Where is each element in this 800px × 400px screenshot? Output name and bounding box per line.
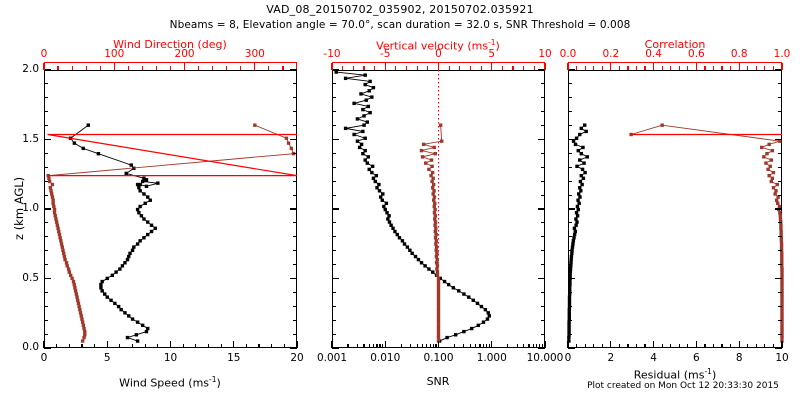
- data-point: [762, 155, 765, 158]
- y-axis-minor-tick: [44, 250, 48, 251]
- x-bottom-minor-tick: [470, 344, 471, 348]
- x-bottom-major-tick: [233, 341, 234, 348]
- x-top-minor-tick: [72, 66, 73, 71]
- x-top-minor-tick: [128, 66, 129, 71]
- data-point: [567, 320, 570, 323]
- x-bottom-minor-tick: [489, 344, 490, 348]
- data-point: [772, 171, 775, 174]
- x-top-tick-label: 0.0: [560, 48, 577, 60]
- x-top-major-tick: [781, 63, 782, 71]
- x-top-major-tick: [567, 63, 568, 71]
- x-top-minor-tick: [100, 66, 101, 71]
- data-point: [581, 146, 584, 149]
- data-point: [577, 192, 580, 195]
- y-axis-right-major-tick: [290, 69, 297, 70]
- x-bottom-minor-tick: [94, 344, 95, 348]
- x-top-tick-label: 0.4: [645, 48, 662, 60]
- y-axis-major-tick: [44, 139, 51, 140]
- data-point: [572, 236, 575, 239]
- x-top-minor-tick: [481, 66, 482, 71]
- y-axis-left-minor-tick: [332, 97, 336, 98]
- x-bottom-minor-tick: [132, 344, 133, 348]
- data-point: [770, 158, 773, 161]
- data-point: [572, 239, 575, 242]
- x-bottom-minor-tick: [670, 344, 671, 348]
- x-top-minor-tick: [704, 66, 705, 71]
- y-axis-right-minor-tick: [541, 320, 545, 321]
- data-point: [780, 283, 783, 286]
- data-point: [581, 168, 584, 171]
- x-top-tick-label: 0: [41, 48, 48, 60]
- x-bottom-minor-tick: [475, 344, 476, 348]
- data-point: [568, 283, 571, 286]
- x-top-tick-label: 0.2: [602, 48, 619, 60]
- data-point: [579, 189, 582, 192]
- x-bottom-minor-tick: [258, 344, 259, 348]
- data-point: [568, 286, 571, 289]
- y-axis-right-major-tick: [775, 208, 782, 209]
- x-top-major-tick: [696, 63, 697, 71]
- data-point: [567, 324, 570, 327]
- x-bottom-major-tick: [739, 341, 740, 348]
- x-bottom-tick-label: 4: [650, 352, 657, 364]
- y-axis-right-minor-tick: [293, 167, 297, 168]
- data-point: [780, 327, 783, 330]
- data-point: [780, 311, 783, 314]
- x-top-minor-tick: [417, 66, 418, 71]
- data-point: [780, 320, 783, 323]
- y-axis-right-minor-tick: [293, 264, 297, 265]
- data-point: [580, 127, 583, 130]
- x-bottom-minor-tick: [246, 344, 247, 348]
- y-axis-left-minor-tick: [568, 250, 572, 251]
- y-axis-minor-tick: [44, 97, 48, 98]
- data-point: [578, 195, 581, 198]
- data-point: [575, 137, 578, 140]
- y-axis-right-major-tick: [290, 139, 297, 140]
- data-point: [774, 189, 777, 192]
- x-bottom-minor-tick: [183, 344, 184, 348]
- x-bottom-minor-tick: [539, 344, 540, 348]
- data-point: [582, 161, 585, 164]
- data-point: [766, 168, 769, 171]
- data-point: [780, 274, 783, 277]
- data-point: [780, 314, 783, 317]
- y-axis-right-minor-tick: [293, 97, 297, 98]
- x-bottom-minor-tick: [756, 344, 757, 348]
- x-bottom-minor-tick: [602, 344, 603, 348]
- x-bottom-major-tick: [438, 341, 439, 348]
- x-bottom-major-tick: [544, 341, 545, 348]
- x-bottom-minor-tick: [627, 344, 628, 348]
- y-axis-left-minor-tick: [568, 306, 572, 307]
- x-bottom-minor-tick: [576, 344, 577, 348]
- y-axis-right-minor-tick: [778, 236, 782, 237]
- x-bottom-tick-label: 0.001: [317, 352, 347, 364]
- x-bottom-minor-tick: [679, 344, 680, 348]
- x-bottom-minor-tick: [69, 344, 70, 348]
- data-point: [577, 149, 580, 152]
- x-top-minor-tick: [627, 66, 628, 71]
- y-axis-right-minor-tick: [541, 306, 545, 307]
- x-bottom-tick-label: 0.100: [423, 352, 453, 364]
- x-bottom-minor-tick: [376, 344, 377, 348]
- x-bottom-minor-tick: [382, 344, 383, 348]
- data-point: [569, 267, 572, 270]
- x-bottom-minor-tick: [81, 344, 82, 348]
- data-point: [568, 280, 571, 283]
- x-top-tick-label: -10: [323, 48, 340, 60]
- y-axis-left-minor-tick: [332, 250, 336, 251]
- x-top-tick-label: 5: [488, 48, 495, 60]
- y-axis-right-minor-tick: [541, 264, 545, 265]
- data-point: [779, 230, 782, 233]
- x-bottom-tick-label: 5: [104, 352, 111, 364]
- y-axis-right-minor-tick: [778, 306, 782, 307]
- y-axis-right-minor-tick: [541, 250, 545, 251]
- data-point: [780, 245, 783, 248]
- x-top-minor-tick: [713, 66, 714, 71]
- data-point: [660, 123, 663, 126]
- y-axis-right-minor-tick: [778, 167, 782, 168]
- data-point: [573, 233, 576, 236]
- y-axis-minor-tick: [44, 306, 48, 307]
- x-bottom-minor-tick: [747, 344, 748, 348]
- x-bottom-minor-tick: [401, 344, 402, 348]
- x-bottom-tick-label: 6: [693, 352, 700, 364]
- y-axis-left-major-tick: [568, 69, 575, 70]
- x-bottom-minor-tick: [426, 344, 427, 348]
- data-point: [571, 245, 574, 248]
- y-axis-tick-label: 0.5: [22, 272, 39, 284]
- data-point: [580, 174, 583, 177]
- x-top-minor-tick: [142, 66, 143, 71]
- x-bottom-minor-tick: [585, 344, 586, 348]
- y-axis-right-minor-tick: [541, 334, 545, 335]
- y-axis-major-tick: [44, 278, 51, 279]
- y-axis-right-minor-tick: [778, 111, 782, 112]
- x-bottom-minor-tick: [435, 344, 436, 348]
- x-bottom-minor-tick: [284, 344, 285, 348]
- x-bottom-minor-tick: [644, 344, 645, 348]
- data-point: [771, 149, 774, 152]
- y-axis-minor-tick: [44, 181, 48, 182]
- y-axis-left-minor-tick: [332, 153, 336, 154]
- data-point: [583, 171, 586, 174]
- data-point: [568, 299, 571, 302]
- x-bottom-minor-tick: [542, 344, 543, 348]
- data-point: [578, 158, 581, 161]
- data-point: [570, 255, 573, 258]
- y-axis-left-minor-tick: [568, 167, 572, 168]
- x-top-major-tick: [331, 63, 332, 71]
- x-bottom-tick-label: 0: [565, 352, 572, 364]
- y-axis-right-minor-tick: [293, 111, 297, 112]
- y-axis-right-minor-tick: [778, 97, 782, 98]
- x-bottom-minor-tick: [507, 344, 508, 348]
- y-axis-right-minor-tick: [778, 83, 782, 84]
- x-bottom-minor-tick: [422, 344, 423, 348]
- x-top-minor-tick: [57, 66, 58, 71]
- x-top-minor-tick: [679, 66, 680, 71]
- y-axis-major-tick: [44, 69, 51, 70]
- vad-plot-figure: VAD_08_20150702_035902, 20150702.035921 …: [0, 0, 800, 400]
- y-axis-left-major-tick: [332, 139, 339, 140]
- y-axis-right-major-tick: [775, 278, 782, 279]
- x-bottom-major-tick: [653, 341, 654, 348]
- y-axis-left-minor-tick: [332, 167, 336, 168]
- x-bottom-major-tick: [385, 341, 386, 348]
- y-axis-left-minor-tick: [568, 320, 572, 321]
- y-axis-left-major-tick: [568, 208, 575, 209]
- x-top-major-tick: [739, 63, 740, 71]
- x-bottom-minor-tick: [417, 344, 418, 348]
- y-axis-left-minor-tick: [568, 181, 572, 182]
- x-bottom-minor-tick: [347, 344, 348, 348]
- y-axis-minor-tick: [44, 334, 48, 335]
- data-point: [780, 252, 783, 255]
- x-bottom-tick-label: 20: [290, 352, 303, 364]
- x-top-minor-tick: [585, 66, 586, 71]
- x-bottom-major-tick: [696, 341, 697, 348]
- y-axis-right-minor-tick: [778, 264, 782, 265]
- data-point: [778, 211, 781, 214]
- y-axis-major-tick: [44, 208, 51, 209]
- y-axis-left-minor-tick: [568, 195, 572, 196]
- x-top-minor-tick: [342, 66, 343, 71]
- x-top-minor-tick: [747, 66, 748, 71]
- data-point: [780, 258, 783, 261]
- y-axis-minor-tick: [44, 320, 48, 321]
- y-axis-right-major-tick: [538, 278, 545, 279]
- series-residual: [567, 123, 589, 342]
- y-axis-right-minor-tick: [541, 222, 545, 223]
- y-axis-left-minor-tick: [568, 111, 572, 112]
- data-point: [571, 242, 574, 245]
- data-point: [576, 214, 579, 217]
- x-top-minor-tick: [636, 66, 637, 71]
- y-axis-right-minor-tick: [778, 125, 782, 126]
- y-axis-right-major-tick: [775, 139, 782, 140]
- data-point: [780, 286, 783, 289]
- x-bottom-minor-tick: [704, 344, 705, 348]
- data-point: [769, 165, 772, 168]
- data-point: [577, 202, 580, 205]
- y-axis-right-minor-tick: [293, 83, 297, 84]
- x-bottom-tick-label: 8: [736, 352, 743, 364]
- x-bottom-tick-label: 0.010: [370, 352, 400, 364]
- x-top-minor-tick: [502, 66, 503, 71]
- x-top-tick-label: 300: [245, 48, 265, 60]
- y-axis-left-minor-tick: [332, 292, 336, 293]
- data-point: [584, 130, 587, 133]
- x-top-minor-tick: [534, 66, 535, 71]
- data-point: [577, 208, 580, 211]
- y-axis-right-minor-tick: [541, 111, 545, 112]
- data-point: [780, 267, 783, 270]
- data-point: [568, 308, 571, 311]
- x-top-major-tick: [610, 63, 611, 71]
- data-point: [760, 146, 763, 149]
- y-axis-right-minor-tick: [541, 292, 545, 293]
- data-point: [574, 217, 577, 220]
- x-top-minor-tick: [240, 66, 241, 71]
- y-axis-right-minor-tick: [541, 195, 545, 196]
- y-axis-tick-label: 2.0: [22, 63, 39, 75]
- y-axis-left-major-tick: [568, 347, 575, 348]
- x-bottom-minor-tick: [208, 344, 209, 348]
- y-axis-minor-tick: [44, 292, 48, 293]
- y-axis-left-minor-tick: [332, 222, 336, 223]
- y-axis-right-minor-tick: [778, 222, 782, 223]
- y-axis-left-minor-tick: [568, 83, 572, 84]
- series-line: [631, 125, 782, 341]
- y-axis-left-minor-tick: [568, 264, 572, 265]
- x-top-tick-label: 100: [104, 48, 124, 60]
- data-point: [780, 299, 783, 302]
- y-axis-right-minor-tick: [778, 292, 782, 293]
- y-axis-minor-tick: [44, 222, 48, 223]
- data-point: [568, 274, 571, 277]
- data-point: [780, 280, 783, 283]
- y-axis-right-minor-tick: [541, 153, 545, 154]
- y-axis-left-minor-tick: [568, 334, 572, 335]
- x-bottom-minor-tick: [517, 344, 518, 348]
- y-axis-right-major-tick: [538, 139, 545, 140]
- y-axis-left-major-tick: [568, 139, 575, 140]
- x-bottom-minor-tick: [119, 344, 120, 348]
- data-point: [776, 183, 779, 186]
- y-axis-minor-tick: [44, 153, 48, 154]
- x-top-minor-tick: [170, 66, 171, 71]
- x-top-minor-tick: [156, 66, 157, 71]
- data-point: [779, 227, 782, 230]
- x-bottom-major-tick: [610, 341, 611, 348]
- x-bottom-minor-tick: [373, 344, 374, 348]
- data-point: [780, 242, 783, 245]
- x-bottom-minor-tick: [379, 344, 380, 348]
- x-bottom-minor-tick: [433, 344, 434, 348]
- y-axis-right-minor-tick: [778, 334, 782, 335]
- y-axis-left-minor-tick: [332, 320, 336, 321]
- data-point: [780, 255, 783, 258]
- panel-residual-data-layer: [0, 0, 800, 400]
- x-top-minor-tick: [212, 66, 213, 71]
- data-point: [583, 123, 586, 126]
- x-bottom-minor-tick: [687, 344, 688, 348]
- y-axis-left-minor-tick: [568, 125, 572, 126]
- y-axis-minor-tick: [44, 236, 48, 237]
- data-point: [772, 186, 775, 189]
- x-top-minor-tick: [602, 66, 603, 71]
- x-bottom-tick-label: 15: [227, 352, 240, 364]
- x-top-major-tick: [184, 63, 185, 71]
- x-bottom-minor-tick: [410, 344, 411, 348]
- y-axis-right-minor-tick: [293, 320, 297, 321]
- y-axis-right-minor-tick: [778, 320, 782, 321]
- data-point: [575, 165, 578, 168]
- x-top-minor-tick: [644, 66, 645, 71]
- x-bottom-tick-label: 1.000: [477, 352, 507, 364]
- x-top-minor-tick: [86, 66, 87, 71]
- x-bottom-minor-tick: [430, 344, 431, 348]
- x-top-minor-tick: [282, 66, 283, 71]
- y-axis-right-minor-tick: [293, 181, 297, 182]
- y-axis-right-minor-tick: [541, 167, 545, 168]
- y-axis-left-minor-tick: [568, 222, 572, 223]
- y-axis-major-tick: [44, 347, 51, 348]
- x-bottom-minor-tick: [357, 344, 358, 348]
- y-axis-minor-tick: [44, 111, 48, 112]
- x-bottom-minor-tick: [730, 344, 731, 348]
- data-point: [574, 230, 577, 233]
- y-axis-left-major-tick: [332, 69, 339, 70]
- y-axis-right-minor-tick: [541, 181, 545, 182]
- x-top-minor-tick: [363, 66, 364, 71]
- data-point: [776, 195, 779, 198]
- data-point: [575, 220, 578, 223]
- x-top-minor-tick: [687, 66, 688, 71]
- x-top-minor-tick: [670, 66, 671, 71]
- x-bottom-minor-tick: [463, 344, 464, 348]
- data-point: [773, 192, 776, 195]
- x-bottom-minor-tick: [662, 344, 663, 348]
- x-bottom-major-tick: [170, 341, 171, 348]
- x-bottom-major-tick: [107, 341, 108, 348]
- data-point: [576, 205, 579, 208]
- x-bottom-minor-tick: [195, 344, 196, 348]
- data-point: [780, 324, 783, 327]
- x-top-minor-tick: [353, 66, 354, 71]
- y-axis-left-minor-tick: [568, 292, 572, 293]
- data-point: [780, 270, 783, 273]
- x-bottom-minor-tick: [486, 344, 487, 348]
- x-top-minor-tick: [576, 66, 577, 71]
- x-top-tick-label: 0.6: [688, 48, 705, 60]
- x-top-minor-tick: [406, 66, 407, 71]
- x-bottom-major-tick: [43, 341, 44, 348]
- y-axis-left-minor-tick: [332, 181, 336, 182]
- x-bottom-minor-tick: [454, 344, 455, 348]
- y-axis-left-minor-tick: [332, 83, 336, 84]
- x-top-minor-tick: [662, 66, 663, 71]
- y-axis-minor-tick: [44, 83, 48, 84]
- y-axis-right-minor-tick: [293, 250, 297, 251]
- data-point: [576, 199, 579, 202]
- y-axis-left-major-tick: [568, 278, 575, 279]
- x-top-tick-label: 1.0: [774, 48, 791, 60]
- x-bottom-minor-tick: [523, 344, 524, 348]
- x-top-major-tick: [438, 63, 439, 71]
- x-top-tick-label: 0: [435, 48, 442, 60]
- data-point: [569, 270, 572, 273]
- y-axis-left-minor-tick: [568, 236, 572, 237]
- x-bottom-minor-tick: [721, 344, 722, 348]
- data-point: [776, 202, 779, 205]
- data-point: [779, 224, 782, 227]
- y-axis-minor-tick: [44, 264, 48, 265]
- x-bottom-minor-tick: [593, 344, 594, 348]
- x-bottom-tick-label: 2: [607, 352, 614, 364]
- series-correlation: [629, 123, 783, 342]
- y-axis-left-major-tick: [332, 278, 339, 279]
- data-point: [580, 183, 583, 186]
- y-axis-right-minor-tick: [293, 334, 297, 335]
- y-axis-left-minor-tick: [332, 111, 336, 112]
- y-axis-right-minor-tick: [778, 195, 782, 196]
- data-point: [780, 295, 783, 298]
- y-axis-right-major-tick: [538, 208, 545, 209]
